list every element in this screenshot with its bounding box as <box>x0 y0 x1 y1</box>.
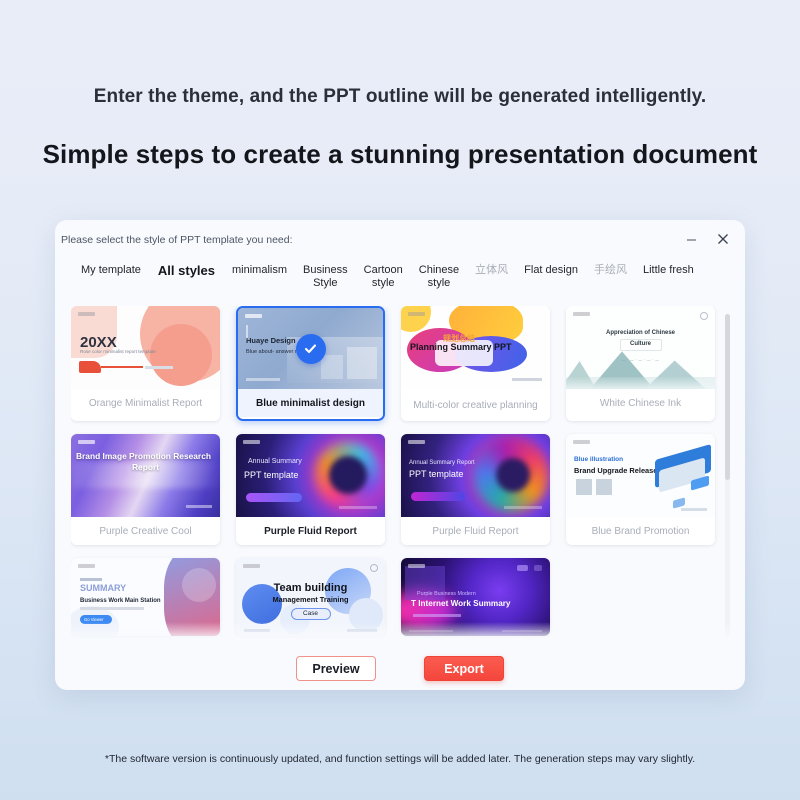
template-grid: 20XX Rose color minimalist report templa… <box>71 306 733 636</box>
template-card-multicolor-creative-planning[interactable]: 规划总结 Planning Summary PPT Multi-color cr… <box>401 306 550 421</box>
template-grid-scroll-area: 20XX Rose color minimalist report templa… <box>71 306 733 644</box>
thumb-title: Huaye Design <box>246 337 296 345</box>
tab-cartoon-style[interactable]: Cartoon style <box>356 260 411 290</box>
tab-label: Flat design <box>524 264 578 276</box>
window-controls <box>683 231 731 247</box>
headline-subtitle: Enter the theme, and the PPT outline wil… <box>0 86 800 108</box>
tab-label: Little fresh <box>643 264 694 276</box>
template-card-team-building[interactable]: Team building Management Training Case <box>236 558 385 636</box>
template-card-label: Blue minimalist design <box>238 389 383 417</box>
minimize-icon[interactable] <box>683 231 699 247</box>
page-headings: Enter the theme, and the PPT outline wil… <box>0 0 800 170</box>
thumb-subtitle: PPT template <box>244 471 298 481</box>
template-card-blue-brand-promotion[interactable]: Blue illustration Brand Upgrade Release … <box>566 434 715 545</box>
thumb-title: Planning Summary PPT <box>410 343 512 353</box>
template-card-label: Purple Fluid Report <box>401 517 550 545</box>
grid-scrollbar-thumb[interactable] <box>725 314 730 480</box>
tab-label: Business Style <box>303 264 348 289</box>
thumb-subtitle: Management Training <box>236 596 385 604</box>
thumb-play-icon <box>700 312 708 320</box>
template-card-blue-minimalist-design[interactable]: Huaye Design Blue about- answer row Blue… <box>236 306 385 421</box>
template-card-label: White Chinese Ink <box>566 389 715 417</box>
tab-my-template[interactable]: My template <box>73 260 149 277</box>
thumb-logo <box>245 314 262 318</box>
thumb-cta-pill <box>246 493 302 502</box>
tab-label: My template <box>81 264 141 276</box>
thumb-title: Team building <box>236 583 385 595</box>
template-thumbnail: Team building Management Training Case <box>236 558 385 636</box>
template-thumbnail: 规划总结 Planning Summary PPT <box>401 306 550 389</box>
tab-all-styles[interactable]: All styles <box>149 260 224 277</box>
template-card-label: Purple Creative Cool <box>71 517 220 545</box>
thumb-title: Annual Summary <box>248 458 302 466</box>
template-card-purple-fluid-report-2[interactable]: Annual Summary Report PPT template Purpl… <box>401 434 550 545</box>
footnote: *The software version is continuously up… <box>0 753 800 765</box>
page-title: Simple steps to create a stunning presen… <box>0 139 800 170</box>
template-thumbnail: Appreciation of Chinese Culture — · — · … <box>566 306 715 389</box>
preview-button[interactable]: Preview <box>296 656 376 681</box>
thumb-logo <box>573 440 590 444</box>
thumb-subtitle: Business Work Main Station <box>80 598 161 605</box>
thumb-subtitle: PPT template <box>409 470 463 480</box>
thumb-play-icon <box>370 564 378 572</box>
template-card-internet-work-summary[interactable]: Purple Business Modern T Internet Work S… <box>401 558 550 636</box>
template-picker-dialog: Please select the style of PPT template … <box>55 220 745 690</box>
thumb-cta-label: Case <box>236 610 385 617</box>
tab-minimalism[interactable]: minimalism <box>224 260 295 277</box>
tab-label: All styles <box>158 263 215 278</box>
thumb-title: SUMMARY <box>80 584 126 594</box>
dialog-title: Please select the style of PPT template … <box>61 234 293 246</box>
template-thumbnail: Brand Image Promotion Research Report <box>71 434 220 517</box>
thumb-title: Brand Image Promotion Research <box>76 452 215 461</box>
thumb-subtitle: Purple Business Modern <box>417 592 476 598</box>
dialog-actions: Preview Export <box>55 656 745 681</box>
template-thumbnail: Blue illustration Brand Upgrade Release <box>566 434 715 517</box>
thumb-logo <box>78 564 95 568</box>
thumb-logo <box>78 312 95 316</box>
tab-label: minimalism <box>232 264 287 276</box>
thumb-subtitle: Culture <box>566 341 715 348</box>
thumb-subtitle: Rose color minimalist report template <box>80 349 188 354</box>
thumb-subtitle: Report <box>71 463 220 472</box>
tab-hand-drawn[interactable]: 手绘风 <box>586 260 635 277</box>
thumb-logo <box>243 440 260 444</box>
template-card-white-chinese-ink[interactable]: Appreciation of Chinese Culture — · — · … <box>566 306 715 421</box>
tab-business-style[interactable]: Business Style <box>295 260 356 290</box>
template-card-label: Blue Brand Promotion <box>566 517 715 545</box>
thumb-logo <box>243 564 260 568</box>
thumb-logo <box>408 564 425 568</box>
tab-chinese-style[interactable]: Chinese style <box>411 260 467 290</box>
tab-little-fresh[interactable]: Little fresh <box>635 260 702 277</box>
template-card-business-work-main-station[interactable]: SUMMARY Business Work Main Station Go Vi… <box>71 558 220 636</box>
template-thumbnail: Annual Summary PPT template <box>236 434 385 517</box>
thumb-logo <box>408 312 425 316</box>
close-icon[interactable] <box>715 231 731 247</box>
thumb-logo <box>78 440 95 444</box>
thumb-logo <box>573 312 590 316</box>
dialog-titlebar: Please select the style of PPT template … <box>55 220 745 258</box>
template-thumbnail: SUMMARY Business Work Main Station Go Vi… <box>71 558 220 636</box>
thumb-title: T Internet Work Summary <box>411 600 511 609</box>
tab-flat-design[interactable]: Flat design <box>516 260 586 277</box>
tab-label: 立体风 <box>475 264 508 276</box>
tab-three-dimensional[interactable]: 立体风 <box>467 260 516 277</box>
template-card-purple-creative-cool[interactable]: Brand Image Promotion Research Report Pu… <box>71 434 220 545</box>
thumb-title: Appreciation of Chinese <box>566 330 715 336</box>
template-card-purple-fluid-report-1[interactable]: Annual Summary PPT template Purple Fluid… <box>236 434 385 545</box>
thumb-title: Brand Upgrade Release <box>574 467 657 475</box>
template-thumbnail: Purple Business Modern T Internet Work S… <box>401 558 550 636</box>
template-thumbnail: Huaye Design Blue about- answer row <box>238 308 383 389</box>
thumb-cta-label: Go Viewer <box>84 617 103 622</box>
thumb-subtitle: Blue illustration <box>574 456 623 463</box>
selected-check-icon <box>296 334 326 364</box>
thumb-title: Annual Summary Report <box>409 460 475 466</box>
thumb-logo <box>408 440 425 444</box>
tab-label: Chinese style <box>419 264 459 289</box>
export-button[interactable]: Export <box>424 656 504 681</box>
tab-label: 手绘风 <box>594 264 627 276</box>
template-thumbnail: Annual Summary Report PPT template <box>401 434 550 517</box>
template-card-label: Orange Minimalist Report <box>71 389 220 417</box>
tab-label: Cartoon style <box>364 264 403 289</box>
style-tabs: My template All styles minimalism Busine… <box>55 258 745 302</box>
template-card-label: Purple Fluid Report <box>236 517 385 545</box>
template-card-orange-minimalist-report[interactable]: 20XX Rose color minimalist report templa… <box>71 306 220 421</box>
template-thumbnail: 20XX Rose color minimalist report templa… <box>71 306 220 389</box>
template-card-label: Multi-color creative planning <box>401 389 550 421</box>
thumb-cta-pill <box>411 492 465 501</box>
